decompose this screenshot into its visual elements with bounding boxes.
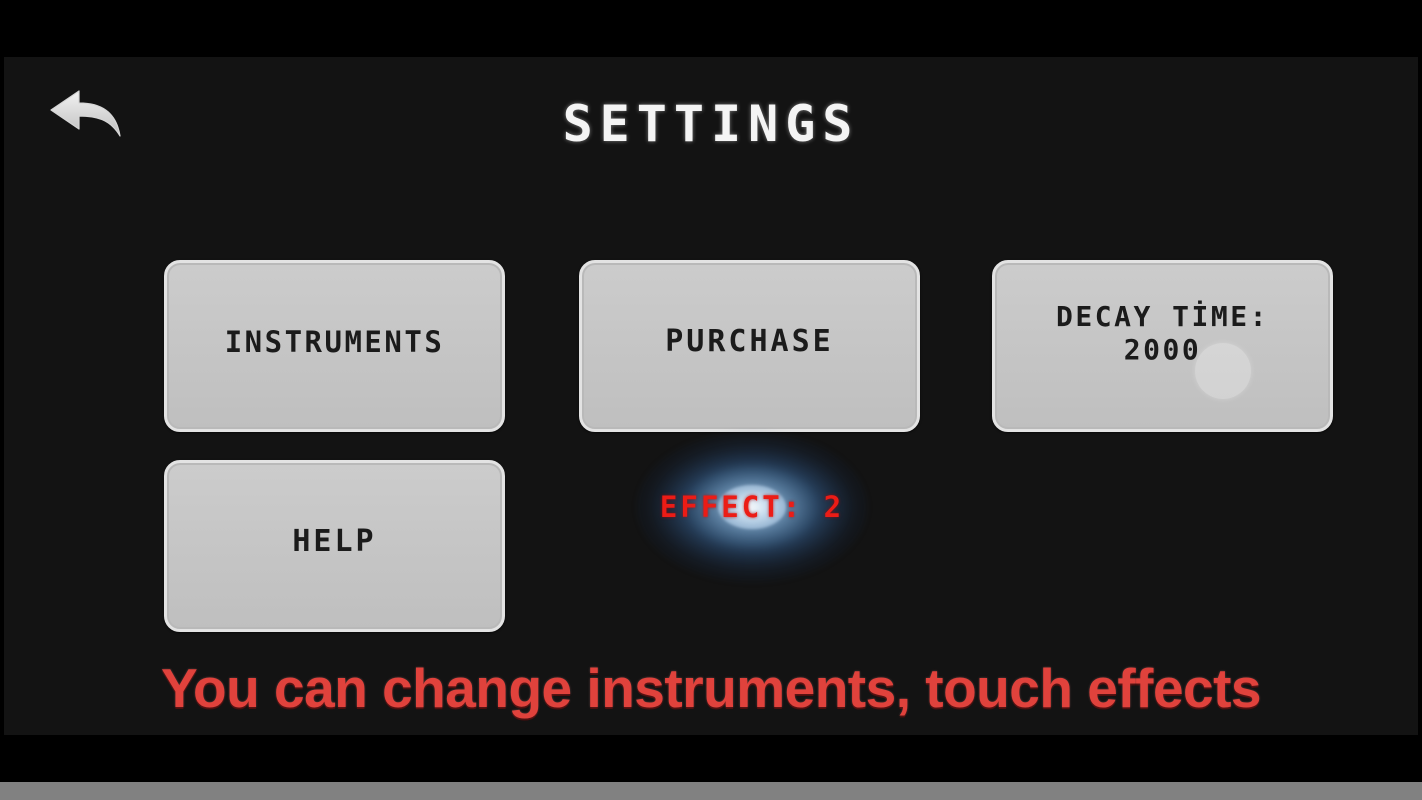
effect-preview[interactable]: EFFECT: 2 xyxy=(602,417,902,597)
help-button-label: HELP xyxy=(292,524,376,559)
effect-label: EFFECT: 2 xyxy=(602,490,902,524)
purchase-button-label: PURCHASE xyxy=(665,324,834,359)
decay-time-button-label: DECAY TİME: 2000 xyxy=(1056,300,1269,366)
description-text: You can change instruments, touch effect… xyxy=(4,649,1418,735)
purchase-button[interactable]: PURCHASE xyxy=(579,260,920,432)
navigation-strip[interactable] xyxy=(0,782,1422,800)
help-button[interactable]: HELP xyxy=(164,460,505,632)
instruments-button-label: INSTRUMENTS xyxy=(225,325,445,359)
description-line-1: You can change instruments, touch effect… xyxy=(4,649,1418,729)
system-bar-bottom xyxy=(0,735,1422,782)
screen-edge-left xyxy=(0,57,4,735)
instruments-button[interactable]: INSTRUMENTS xyxy=(164,260,505,432)
device-screen: SETTINGS INSTRUMENTS PURCHASE DECAY TİME… xyxy=(0,0,1422,800)
system-bar-top xyxy=(0,0,1422,57)
decay-time-button[interactable]: DECAY TİME: 2000 xyxy=(992,260,1333,432)
settings-screen: SETTINGS INSTRUMENTS PURCHASE DECAY TİME… xyxy=(4,57,1418,735)
page-title: SETTINGS xyxy=(4,95,1418,153)
screen-edge-right xyxy=(1418,57,1422,735)
